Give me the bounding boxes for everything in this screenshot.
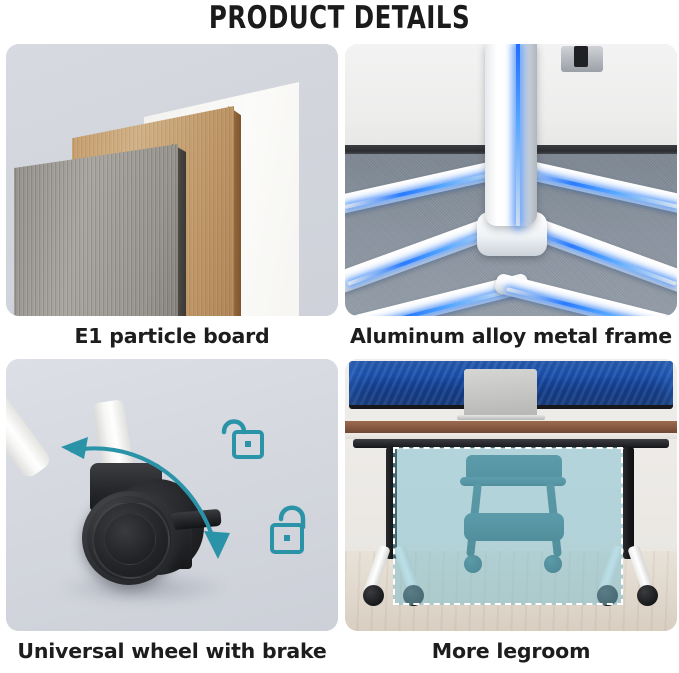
panel-image-legroom [345, 359, 677, 631]
detail-card-legroom: More legroom [345, 359, 677, 671]
panel-image-universal-wheel [6, 359, 338, 631]
detail-card-metal-frame: Aluminum alloy metal frame [345, 44, 677, 356]
caption-legroom: More legroom [345, 633, 677, 671]
caption-metal-frame: Aluminum alloy metal frame [345, 318, 677, 356]
lock-icon [272, 508, 303, 552]
desk-tabletop [345, 421, 677, 433]
arrow-head-lock [204, 531, 230, 559]
desk-leg-right [623, 447, 634, 559]
arrow-head-unlock [61, 437, 88, 459]
caption-particle-board: E1 particle board [6, 318, 338, 356]
panel-image-particle-board [6, 44, 338, 316]
frame-center-column [485, 44, 537, 226]
lock-arrow-diagram [6, 359, 338, 631]
product-details-grid: E1 particle board [0, 40, 679, 673]
curved-arrow [71, 448, 214, 541]
panel-image-metal-frame [345, 44, 677, 316]
detail-card-universal-wheel: Universal wheel with brake [6, 359, 338, 671]
legroom-highlight-area [393, 447, 623, 605]
blue-glow-accent [516, 44, 520, 226]
desk-caster [363, 585, 384, 606]
laptop [464, 369, 537, 417]
lock-state-annotation [6, 359, 338, 631]
unlock-icon [224, 422, 262, 458]
desk-caster [637, 585, 658, 606]
laptop-base [457, 415, 545, 420]
page-title: PRODUCT DETAILS [41, 0, 639, 40]
caption-universal-wheel: Universal wheel with brake [6, 633, 338, 671]
detail-card-particle-board: E1 particle board [6, 44, 338, 356]
board-gray [14, 144, 178, 316]
wall-bracket [561, 46, 603, 72]
